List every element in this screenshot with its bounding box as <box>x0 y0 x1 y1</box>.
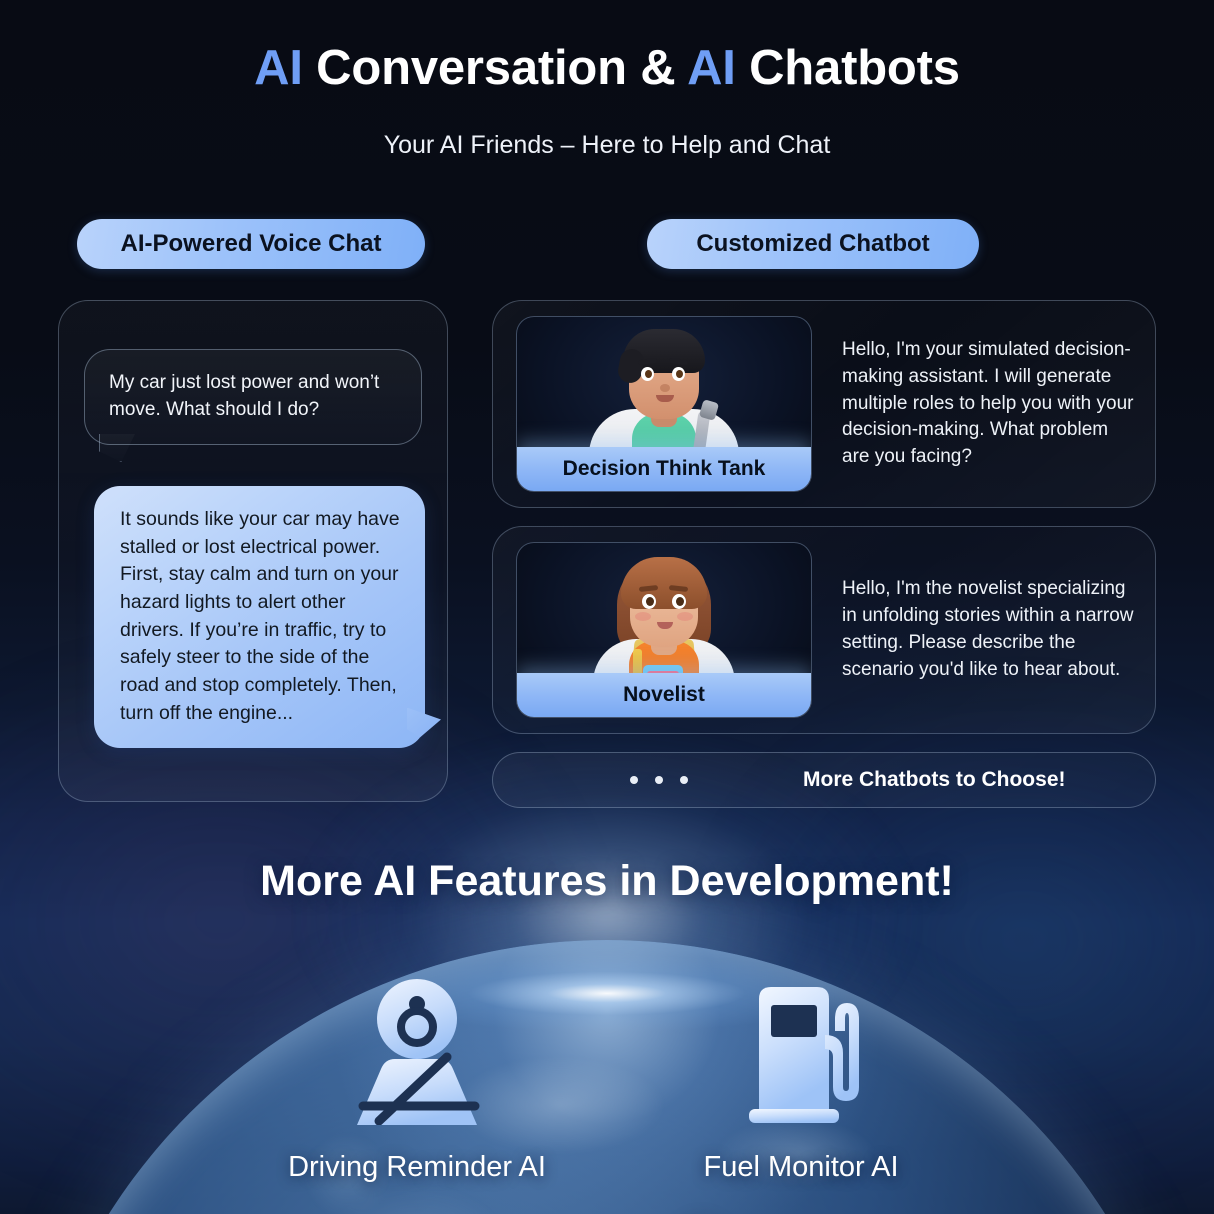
feature-label: Driving Reminder AI <box>247 1151 587 1184</box>
section-pill-customized-chatbot[interactable]: Customized Chatbot <box>647 219 979 269</box>
development-section-title: More AI Features in Development! <box>0 857 1214 906</box>
page-subtitle: Your AI Friends – Here to Help and Chat <box>0 131 1214 160</box>
chatbot-intro-message: Hello, I'm the novelist specializing in … <box>842 576 1137 684</box>
user-message-text: My car just lost power and won’t move. W… <box>109 372 379 420</box>
chatbot-thumbnail-decision-think-tank: Decision Think Tank <box>516 316 812 492</box>
chatbot-intro-message: Hello, I'm your simulated decision-makin… <box>842 337 1137 472</box>
ai-bubble-tail <box>407 708 441 738</box>
chatbot-name-label: Novelist <box>517 673 811 717</box>
title-ai-accent-2: AI <box>687 41 736 95</box>
more-chatbots-label: More Chatbots to Choose! <box>803 768 1066 792</box>
chatbot-card-decision-think-tank[interactable]: Decision Think Tank Hello, I'm your simu… <box>492 300 1156 508</box>
chatbot-list: Decision Think Tank Hello, I'm your simu… <box>492 300 1156 808</box>
chatbot-thumbnail-novelist: Novelist <box>516 542 812 718</box>
page-header: AI Conversation & AI Chatbots Your AI Fr… <box>0 44 1214 160</box>
title-text-2: Chatbots <box>736 41 960 95</box>
section-pill-voice-chat[interactable]: AI-Powered Voice Chat <box>77 219 425 269</box>
poster-canvas: AI Conversation & AI Chatbots Your AI Fr… <box>0 0 1214 1214</box>
feature-label: Fuel Monitor AI <box>631 1151 971 1184</box>
title-ai-accent-1: AI <box>254 41 303 95</box>
feature-fuel-monitor: Fuel Monitor AI <box>631 975 971 1184</box>
chatbot-name-label: Decision Think Tank <box>517 447 811 491</box>
user-message-bubble: My car just lost power and won’t move. W… <box>84 349 422 445</box>
ellipsis-icon <box>630 776 688 784</box>
title-text-1: Conversation & <box>303 41 687 95</box>
feature-driving-reminder: Driving Reminder AI <box>247 975 587 1184</box>
voice-chat-panel: My car just lost power and won’t move. W… <box>58 300 448 802</box>
user-bubble-tail <box>99 434 135 462</box>
ai-message-text: It sounds like your car may have stalled… <box>120 508 400 724</box>
ai-message-bubble: It sounds like your car may have stalled… <box>94 486 425 748</box>
more-chatbots-button[interactable]: More Chatbots to Choose! <box>492 752 1156 808</box>
page-title: AI Conversation & AI Chatbots <box>0 44 1214 93</box>
seatbelt-person-icon <box>323 975 511 1125</box>
fuel-pump-icon <box>707 975 895 1125</box>
chatbot-card-novelist[interactable]: Novelist Hello, I'm the novelist special… <box>492 526 1156 734</box>
